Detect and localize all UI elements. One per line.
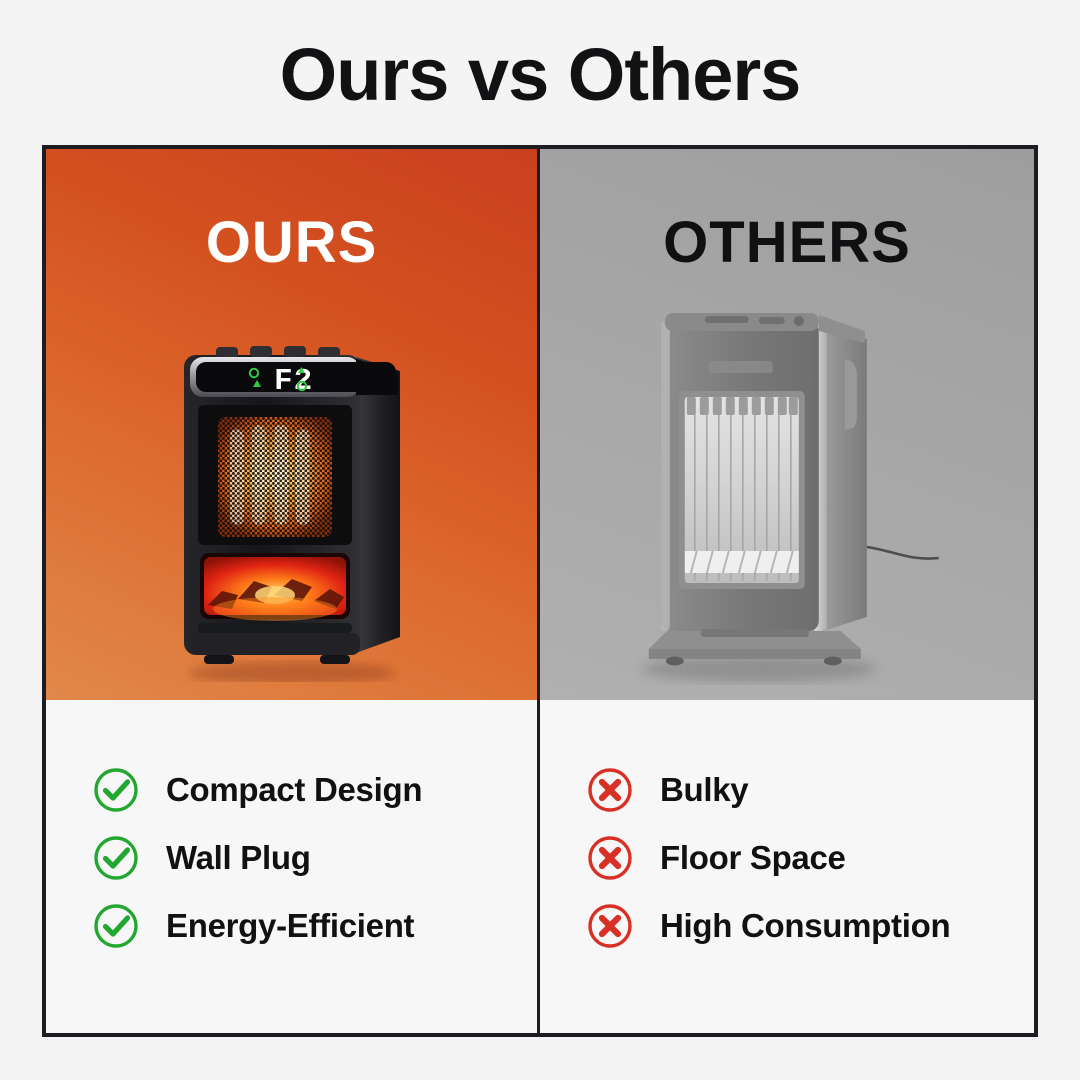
page-title: Ours vs Others [0, 34, 1080, 115]
ours-feature-list: Compact Design Wall Plug Energy-Efficien… [46, 700, 537, 1033]
feature-label: High Consumption [660, 907, 950, 945]
feature-label: Floor Space [660, 839, 846, 877]
cross-circle-icon [586, 766, 634, 814]
list-item: High Consumption [586, 892, 1034, 960]
check-circle-icon [92, 902, 140, 950]
cross-circle-icon [586, 834, 634, 882]
others-hero-panel: OTHERS [540, 149, 1034, 700]
column-others: OTHERS [540, 149, 1034, 1033]
comparison-card: OURS [42, 145, 1038, 1037]
feature-label: Wall Plug [166, 839, 311, 877]
others-heading: OTHERS [540, 209, 1034, 276]
feature-label: Energy-Efficient [166, 907, 414, 945]
ours-hero-panel: OURS [46, 149, 537, 700]
tall-tower-heater-image [609, 299, 939, 699]
list-item: Energy-Efficient [92, 892, 537, 960]
feature-label: Compact Design [166, 771, 422, 809]
feature-label: Bulky [660, 771, 748, 809]
check-circle-icon [92, 834, 140, 882]
ours-heading: OURS [46, 209, 537, 276]
check-circle-icon [92, 766, 140, 814]
list-item: Wall Plug [92, 824, 537, 892]
compact-fireplace-heater-image: F2 [142, 337, 442, 682]
list-item: Bulky [586, 756, 1034, 824]
heater-display-value: F2 [274, 364, 313, 399]
power-cord-icon [867, 547, 939, 559]
comparison-infographic: Ours vs Others OURS [0, 0, 1080, 1080]
cross-circle-icon [586, 902, 634, 950]
column-ours: OURS [46, 149, 540, 1033]
list-item: Floor Space [586, 824, 1034, 892]
list-item: Compact Design [92, 756, 537, 824]
others-feature-list: Bulky Floor Space High Consumption [540, 700, 1034, 1033]
